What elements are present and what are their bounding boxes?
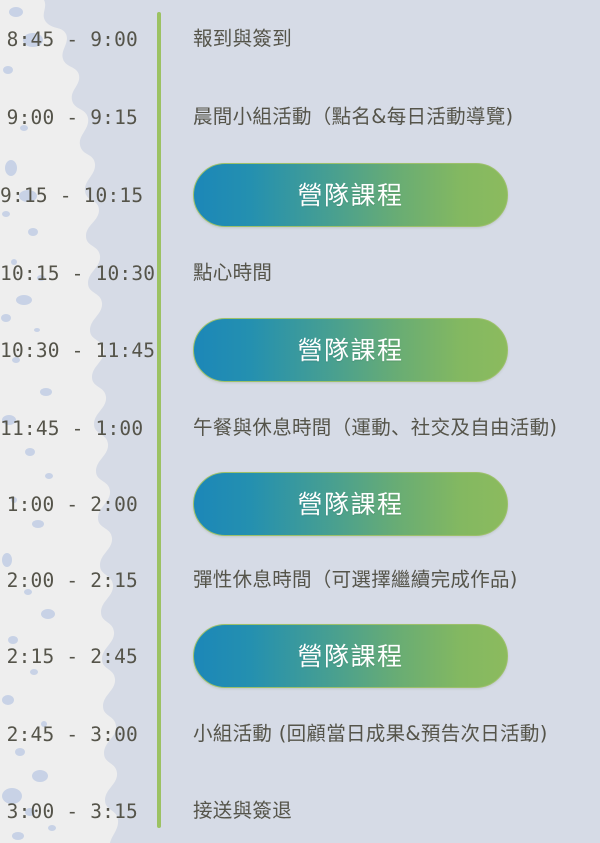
schedule-row: 9:00 - 9:15 晨間小組活動（點名&每日活動導覽) (0, 78, 600, 156)
row-activity: 午餐與休息時間（運動、社交及自由活動) (157, 389, 600, 467)
row-time: 8:45 - 9:00 (0, 28, 157, 51)
schedule-row: 3:00 - 3:15 接送與簽退 (0, 772, 600, 843)
schedule-row: 10:30 - 11:45 營隊課程 (0, 311, 600, 389)
pill-label: 營隊課程 (297, 183, 403, 208)
row-activity: 營隊課程 (157, 156, 600, 234)
camp-course-pill[interactable]: 營隊課程 (193, 624, 508, 688)
activity-label: 接送與簽退 (193, 799, 292, 822)
row-activity: 營隊課程 (157, 465, 600, 543)
row-time: 11:45 - 1:00 (0, 417, 157, 440)
pill-label: 營隊課程 (297, 492, 403, 517)
row-time: 10:30 - 11:45 (0, 339, 157, 362)
row-activity: 營隊課程 (157, 311, 600, 389)
schedule-row: 2:00 - 2:15 彈性休息時間（可選擇繼續完成作品) (0, 541, 600, 619)
row-activity: 接送與簽退 (157, 772, 600, 843)
activity-label: 報到與簽到 (193, 27, 292, 50)
row-time: 2:00 - 2:15 (0, 569, 157, 592)
camp-course-pill[interactable]: 營隊課程 (193, 163, 508, 227)
row-time: 3:00 - 3:15 (0, 800, 157, 823)
schedule-row: 9:15 - 10:15 營隊課程 (0, 156, 600, 234)
activity-label: 彈性休息時間（可選擇繼續完成作品) (193, 568, 518, 591)
row-activity: 晨間小組活動（點名&每日活動導覽) (157, 78, 600, 156)
schedule-row: 1:00 - 2:00 營隊課程 (0, 465, 600, 543)
daily-schedule: 8:45 - 9:00 報到與簽到 9:00 - 9:15 晨間小組活動（點名&… (0, 0, 600, 843)
activity-label: 晨間小組活動（點名&每日活動導覽) (193, 105, 513, 128)
schedule-row: 2:45 - 3:00 小組活動 (回顧當日成果&預告次日活動) (0, 695, 600, 773)
activity-label: 點心時間 (193, 261, 272, 284)
pill-label: 營隊課程 (297, 644, 403, 669)
row-time: 10:15 - 10:30 (0, 262, 157, 285)
schedule-row: 11:45 - 1:00 午餐與休息時間（運動、社交及自由活動) (0, 389, 600, 467)
row-time: 9:00 - 9:15 (0, 106, 157, 129)
schedule-row: 10:15 - 10:30 點心時間 (0, 234, 600, 312)
row-activity: 點心時間 (157, 234, 600, 312)
schedule-row: 8:45 - 9:00 報到與簽到 (0, 0, 600, 78)
row-activity: 小組活動 (回顧當日成果&預告次日活動) (157, 695, 600, 773)
row-time: 2:45 - 3:00 (0, 723, 157, 746)
row-time: 1:00 - 2:00 (0, 493, 157, 516)
pill-label: 營隊課程 (297, 338, 403, 363)
row-activity: 營隊課程 (157, 617, 600, 695)
schedule-row: 2:15 - 2:45 營隊課程 (0, 617, 600, 695)
row-time: 2:15 - 2:45 (0, 645, 157, 668)
camp-course-pill[interactable]: 營隊課程 (193, 472, 508, 536)
activity-label: 午餐與休息時間（運動、社交及自由活動) (193, 416, 557, 439)
row-time: 9:15 - 10:15 (0, 184, 157, 207)
activity-label: 小組活動 (回顧當日成果&預告次日活動) (193, 722, 548, 745)
camp-course-pill[interactable]: 營隊課程 (193, 318, 508, 382)
row-activity: 報到與簽到 (157, 0, 600, 78)
row-activity: 彈性休息時間（可選擇繼續完成作品) (157, 541, 600, 619)
